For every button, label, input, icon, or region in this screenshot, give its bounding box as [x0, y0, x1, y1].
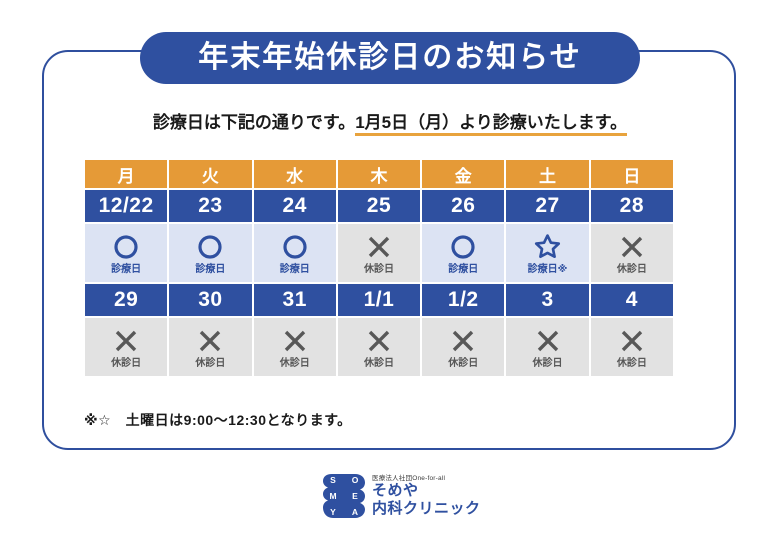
- date-cell: 30: [169, 284, 251, 316]
- status-label: 診療日: [111, 265, 141, 275]
- logo-text-block: 医療法人社団One-for-all そめや 内科クリニック: [372, 475, 481, 517]
- closed-day-cell: 休診日: [506, 318, 588, 376]
- open-day-cell: 診療日: [254, 224, 336, 282]
- cross-mark-icon: [535, 326, 561, 356]
- status-cell-content: 診療日: [422, 224, 504, 282]
- date-cell: 26: [422, 190, 504, 222]
- calendar-body: 月火水木金土日12/22232425262728診療日診療日診療日休診日診療日診…: [85, 160, 673, 376]
- weekday-header-cell: 月: [85, 160, 167, 188]
- status-cell-content: 休診日: [338, 318, 420, 376]
- logo-clinic-name-line2: 内科クリニック: [372, 500, 481, 517]
- calendar-date-row: 12/22232425262728: [85, 190, 673, 222]
- status-label: 休診日: [364, 359, 394, 369]
- date-cell: 25: [338, 190, 420, 222]
- date-cell: 24: [254, 190, 336, 222]
- cross-mark-icon: [197, 326, 223, 356]
- date-cell: 31: [254, 284, 336, 316]
- status-cell-content: 休診日: [591, 224, 673, 282]
- logo-letter-0: S: [330, 476, 336, 485]
- closed-day-cell: 休診日: [591, 224, 673, 282]
- status-label: 診療日: [448, 265, 478, 275]
- date-cell: 3: [506, 284, 588, 316]
- open-day-cell: 診療日: [85, 224, 167, 282]
- logo-blob-icon: S O M E Y A: [322, 472, 366, 520]
- circle-mark-icon: [113, 232, 139, 262]
- logo-letter-grid: S O M E Y A: [322, 472, 366, 520]
- status-label: 休診日: [195, 359, 225, 369]
- circle-mark-icon: [450, 232, 476, 262]
- status-label: 診療日: [280, 265, 310, 275]
- calendar-footnote: ※☆ 土曜日は9:00〜12:30となります。: [84, 410, 352, 430]
- cross-mark-icon: [619, 326, 645, 356]
- date-cell: 27: [506, 190, 588, 222]
- closed-day-cell: 休診日: [338, 224, 420, 282]
- date-cell: 4: [591, 284, 673, 316]
- cross-mark-icon: [619, 232, 645, 262]
- status-label: 休診日: [280, 359, 310, 369]
- status-cell-content: 休診日: [591, 318, 673, 376]
- closed-day-cell: 休診日: [85, 318, 167, 376]
- cross-mark-icon: [366, 326, 392, 356]
- cross-mark-icon: [450, 326, 476, 356]
- open-day-cell: 診療日: [169, 224, 251, 282]
- calendar-status-row: 休診日休診日休診日休診日休診日休診日休診日: [85, 318, 673, 376]
- open-day-cell: 診療日: [422, 224, 504, 282]
- status-cell-content: 休診日: [422, 318, 504, 376]
- logo-letter-4: Y: [330, 508, 336, 517]
- logo-letter-5: A: [352, 508, 358, 517]
- logo-clinic-name-line1: そめや: [372, 482, 481, 499]
- status-label: 診療日: [195, 265, 225, 275]
- closed-day-cell: 休診日: [591, 318, 673, 376]
- open-day-cell: 診療日※: [506, 224, 588, 282]
- status-cell-content: 休診日: [169, 318, 251, 376]
- circle-mark-icon: [197, 232, 223, 262]
- circle-mark-icon: [282, 232, 308, 262]
- date-cell: 12/22: [85, 190, 167, 222]
- notice-title-banner: 年末年始休診日のお知らせ: [140, 32, 640, 84]
- weekday-header-cell: 土: [506, 160, 588, 188]
- status-label: 休診日: [111, 359, 141, 369]
- status-label: 休診日: [448, 359, 478, 369]
- closed-day-cell: 休診日: [169, 318, 251, 376]
- holiday-calendar-table: 月火水木金土日12/22232425262728診療日診療日診療日休診日診療日診…: [83, 158, 675, 378]
- status-cell-content: 診療日: [169, 224, 251, 282]
- logo-letter-2: M: [329, 492, 336, 501]
- status-cell-content: 診療日: [254, 224, 336, 282]
- weekday-header-cell: 木: [338, 160, 420, 188]
- date-cell: 1/1: [338, 284, 420, 316]
- logo-letter-3: E: [352, 492, 358, 501]
- date-cell: 23: [169, 190, 251, 222]
- subtitle-plain-text: 診療日は下記の通りです。: [153, 113, 355, 132]
- weekday-header-cell: 火: [169, 160, 251, 188]
- status-label: 休診日: [617, 265, 647, 275]
- date-cell: 28: [591, 190, 673, 222]
- closed-day-cell: 休診日: [338, 318, 420, 376]
- logo-corporation-name: 医療法人社団One-for-all: [372, 475, 481, 482]
- weekday-header-cell: 金: [422, 160, 504, 188]
- cross-mark-icon: [113, 326, 139, 356]
- status-cell-content: 休診日: [85, 318, 167, 376]
- status-cell-content: 診療日※: [506, 224, 588, 282]
- logo-letter-1: O: [352, 476, 359, 485]
- notice-subtitle: 診療日は下記の通りです。1月5日（月）より診療いたします。: [0, 108, 780, 133]
- cross-mark-icon: [366, 232, 392, 262]
- status-cell-content: 休診日: [254, 318, 336, 376]
- star-mark-icon: [534, 232, 561, 262]
- calendar-date-row: 2930311/11/234: [85, 284, 673, 316]
- weekday-header-cell: 日: [591, 160, 673, 188]
- clinic-logo: S O M E Y A 医療法人社団One-for-all そめや 内科クリニッ…: [322, 470, 502, 522]
- status-label: 休診日: [617, 359, 647, 369]
- subtitle-highlight-text: 1月5日（月）より診療いたします。: [355, 113, 627, 136]
- status-label: 診療日※: [528, 265, 568, 275]
- status-label: 休診日: [364, 265, 394, 275]
- status-label: 休診日: [533, 359, 563, 369]
- cross-mark-icon: [282, 326, 308, 356]
- calendar-status-row: 診療日診療日診療日休診日診療日診療日※休診日: [85, 224, 673, 282]
- closed-day-cell: 休診日: [422, 318, 504, 376]
- status-cell-content: 診療日: [85, 224, 167, 282]
- date-cell: 1/2: [422, 284, 504, 316]
- status-cell-content: 休診日: [506, 318, 588, 376]
- closed-day-cell: 休診日: [254, 318, 336, 376]
- weekday-header-cell: 水: [254, 160, 336, 188]
- calendar-weekday-row: 月火水木金土日: [85, 160, 673, 188]
- status-cell-content: 休診日: [338, 224, 420, 282]
- page-title: 年末年始休診日のお知らせ: [198, 43, 581, 73]
- date-cell: 29: [85, 284, 167, 316]
